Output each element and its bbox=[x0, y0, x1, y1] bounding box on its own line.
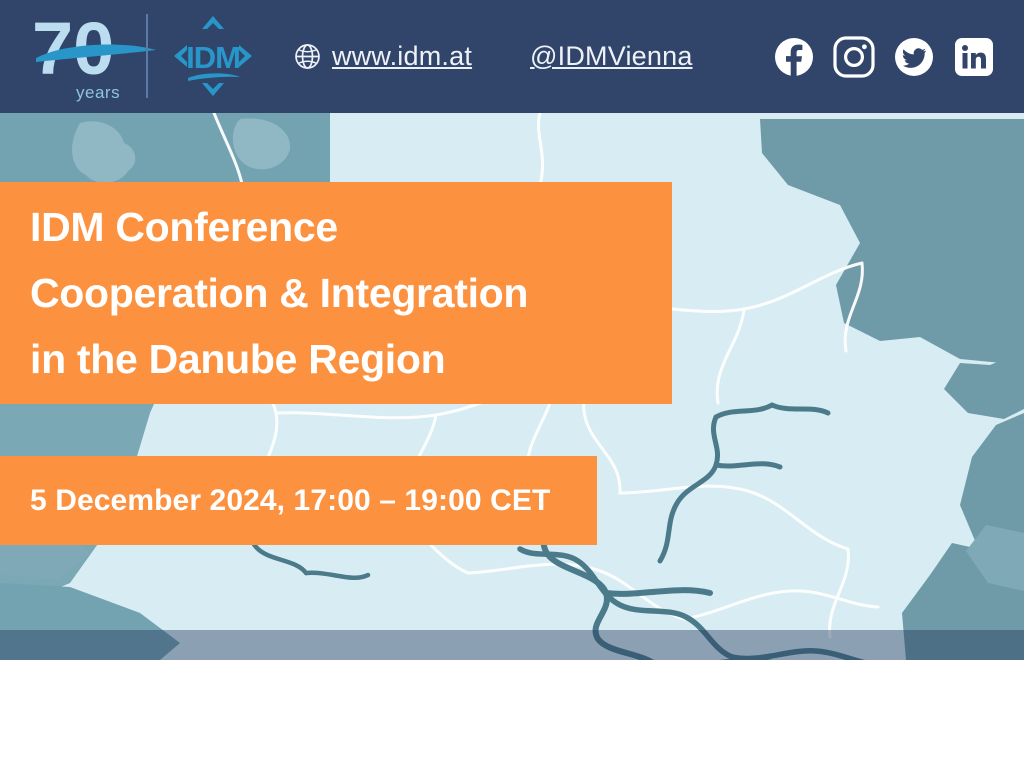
event-title-line-1: IDM Conference bbox=[30, 194, 672, 260]
event-datetime: 5 December 2024, 17:00 – 19:00 CET bbox=[30, 484, 550, 518]
event-datetime-block: 5 December 2024, 17:00 – 19:00 CET bbox=[0, 456, 597, 545]
instagram-icon[interactable] bbox=[832, 35, 876, 79]
idm-logo-icon: IDM bbox=[168, 12, 258, 100]
seventy-years-icon: 70 bbox=[32, 14, 172, 86]
svg-text:IDM: IDM bbox=[186, 40, 240, 75]
idm-anniversary-logo: 70 years IDM bbox=[0, 0, 268, 113]
linkedin-icon[interactable] bbox=[952, 35, 996, 79]
contact-info: www.idm.at @IDMVienna bbox=[294, 41, 693, 72]
event-title-line-3: in the Danube Region bbox=[30, 326, 672, 392]
sponsor-logo-bar: Visegrad Fund WISSENSCHAFT · FORSCHUNG N… bbox=[0, 660, 1024, 768]
facebook-icon[interactable] bbox=[772, 35, 816, 79]
event-poster: 70 years IDM www.idm bbox=[0, 0, 1024, 768]
header-divider bbox=[146, 14, 148, 98]
anniversary-word: years bbox=[76, 83, 120, 103]
globe-icon bbox=[294, 43, 321, 70]
page-header: 70 years IDM www.idm bbox=[0, 0, 1024, 113]
event-title-block: IDM Conference Cooperation & Integration… bbox=[0, 182, 672, 404]
event-title-line-2: Cooperation & Integration bbox=[30, 260, 672, 326]
website-link[interactable]: www.idm.at bbox=[332, 41, 472, 72]
twitter-icon[interactable] bbox=[892, 35, 936, 79]
social-handle-link[interactable]: @IDMVienna bbox=[530, 41, 692, 72]
map-bottom-band bbox=[0, 630, 1024, 660]
social-links bbox=[772, 0, 996, 113]
